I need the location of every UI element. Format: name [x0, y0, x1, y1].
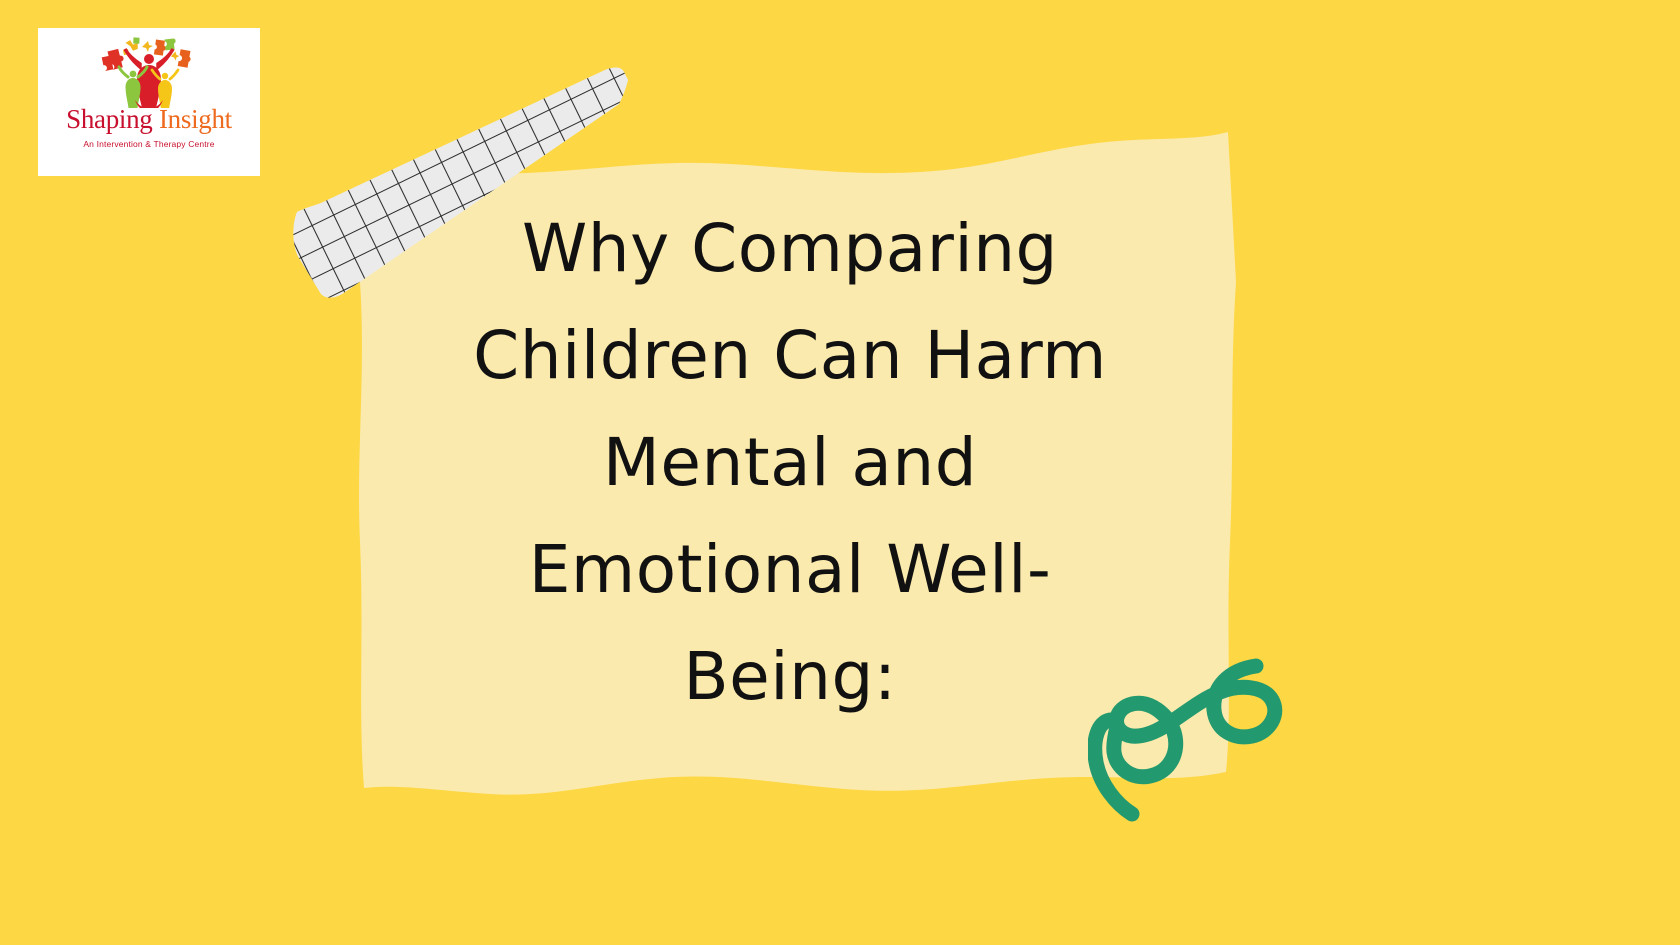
- logo-word-primary: Shaping: [66, 104, 152, 134]
- title-line-3: Mental and: [430, 410, 1150, 517]
- title-line-4: Emotional Well-: [430, 517, 1150, 624]
- title-line-5: Being:: [430, 624, 1150, 731]
- green-squiggle-decoration: [1088, 648, 1288, 848]
- green-spiral-icon: [1088, 648, 1288, 848]
- title-line-1: Why Comparing: [430, 196, 1150, 303]
- page-title: Why Comparing Children Can Harm Mental a…: [430, 196, 1150, 731]
- logo-card: Shaping Insight An Intervention & Therap…: [38, 28, 260, 176]
- shaping-insight-tree-icon: [93, 34, 205, 108]
- title-line-2: Children Can Harm: [430, 303, 1150, 410]
- logo-tagline: An Intervention & Therapy Centre: [83, 139, 214, 149]
- logo-wordmark: Shaping Insight: [66, 106, 232, 133]
- logo-word-secondary: Insight: [159, 104, 232, 134]
- slide-canvas: Shaping Insight An Intervention & Therap…: [0, 0, 1680, 945]
